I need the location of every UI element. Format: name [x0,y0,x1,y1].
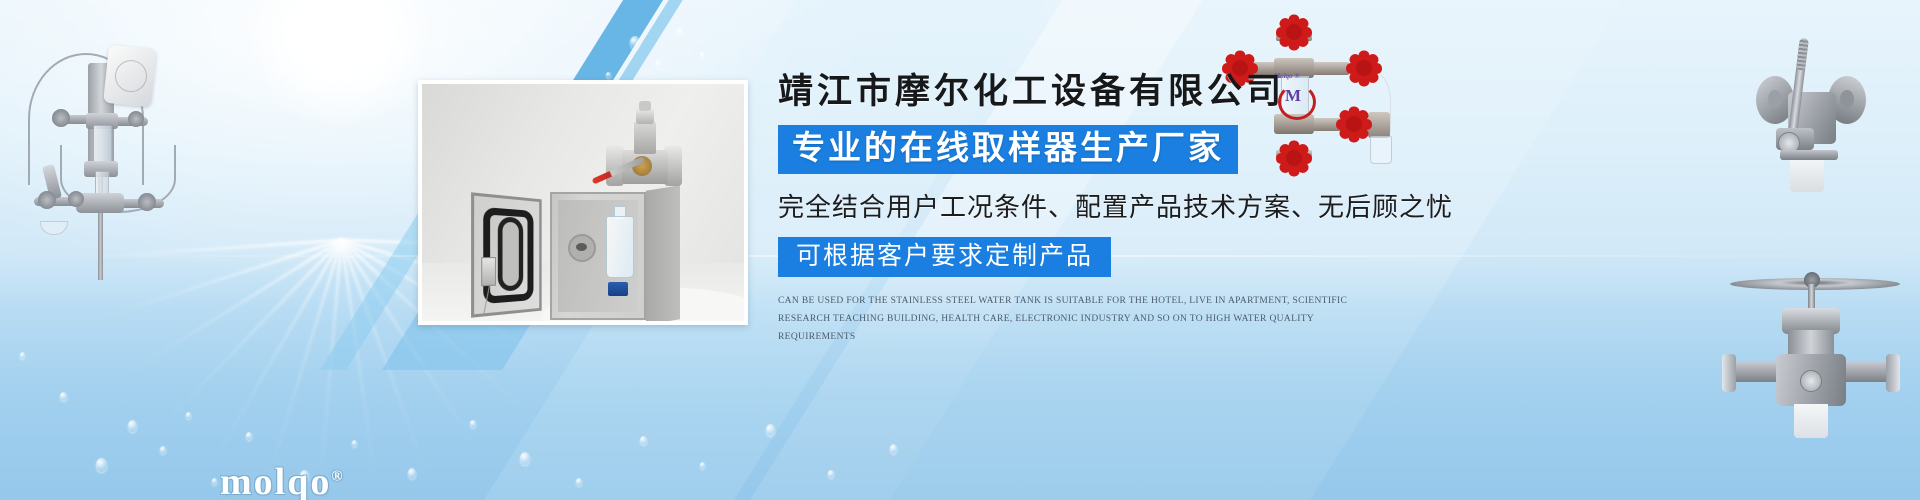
sampler-equipment-illustration-left [10,25,190,280]
blue-cap [608,282,628,296]
valve-wheel [128,111,144,127]
valve-flange-left [1722,354,1736,392]
english-description: CAN BE USED FOR THE STAINLESS STEEL WATE… [778,293,1378,346]
cabinet-side-panel [646,185,680,324]
valve-wheel [52,109,70,127]
valve-wheel [68,191,84,207]
sample-cup [1790,160,1824,192]
product-photo [418,80,748,325]
cabinet-port [568,234,596,262]
banner-copy-block: 靖江市摩尔化工设备有限公司 专业的在线取样器生产厂家 完全结合用户工况条件、配置… [778,72,1418,346]
valve-stack [634,122,656,154]
company-name: 靖江市摩尔化工设备有限公司 [778,72,1418,112]
sample-cup [1794,404,1828,438]
headline-highlight: 专业的在线取样器生产厂家 [778,125,1238,174]
door-latch [481,257,496,286]
valve-knob [639,101,651,111]
door-window [498,216,523,291]
brand-logo-text: molqo [220,461,331,500]
registered-trademark-icon: ® [331,468,342,484]
handwheel-valve-illustration [1720,258,1915,448]
promo-banner: Molqo ® M 靖江市摩尔化工设备有限公司 专业的在线取样器生产厂家 完全结 [0,0,1920,500]
valve-wheel [138,193,156,211]
sample-cup [40,221,68,235]
valve-base-plate [1780,150,1838,160]
lever-valve-illustration [1716,24,1906,209]
cabinet-door [471,192,542,318]
enclosure-box [103,45,157,108]
brand-logo: molqo® [220,460,343,500]
subheadline: 完全结合用户工况条件、配置产品技术方案、无后顾之忧 [778,187,1418,224]
sample-bottle [606,216,634,278]
tagline-highlight: 可根据客户要求定制产品 [778,237,1111,278]
valve-flange-right [1886,354,1900,392]
valve-dial [1800,370,1822,392]
red-handwheel-top [1276,14,1312,50]
valve-wheel [38,191,56,209]
sampling-valve-assembly [598,106,694,198]
